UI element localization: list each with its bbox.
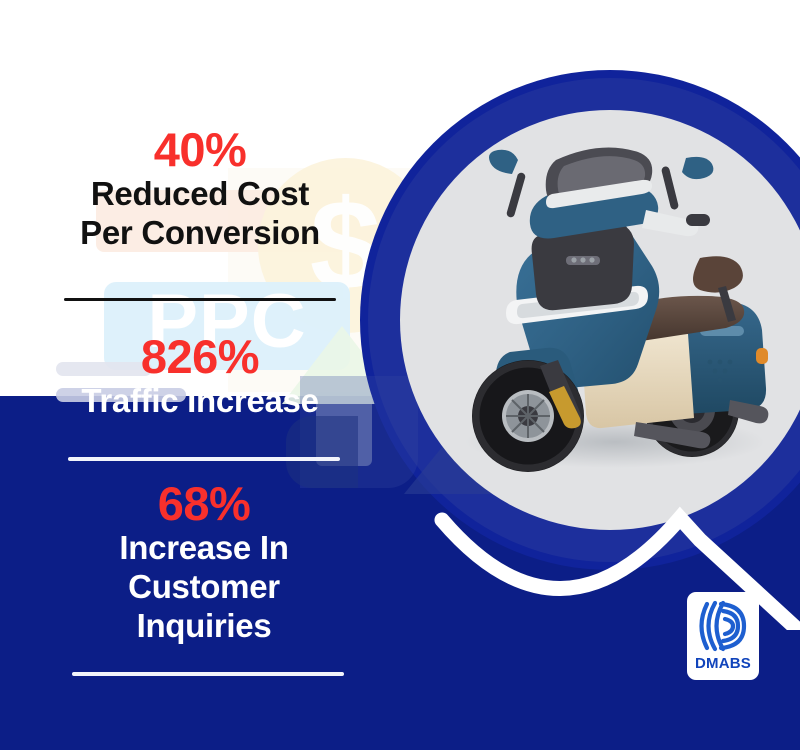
stat-block-1: 40% Reduced Cost Per Conversion: [0, 126, 400, 253]
stat-caption-3-line-1: Increase In: [4, 529, 404, 568]
stat-block-2: 826% Traffic Increase: [0, 333, 400, 421]
dmabs-swirl-icon: [694, 598, 752, 654]
divider-3: [8, 672, 408, 676]
product-photo-disc: [400, 110, 800, 530]
scooter-illustration: [400, 110, 800, 530]
brand-logo[interactable]: DMABS: [687, 592, 759, 680]
stat-caption-1-line-1: Reduced Cost: [0, 175, 400, 214]
stat-value-1: 40%: [0, 126, 400, 175]
stat-value-2: 826%: [0, 333, 400, 382]
poster-canvas: $ PPC: [0, 0, 800, 750]
stat-caption-3-line-3: Inquiries: [4, 607, 404, 646]
stat-caption-2-line-1: Traffic Increase: [0, 382, 400, 421]
logo-wordmark: DMABS: [695, 656, 751, 671]
divider-1: [0, 298, 400, 301]
divider-2: [4, 457, 404, 461]
stat-caption-3-line-2: Customer: [4, 568, 404, 607]
stats-column: 40% Reduced Cost Per Conversion 826% Tra…: [0, 0, 400, 750]
stat-caption-1-line-2: Per Conversion: [0, 214, 400, 253]
stat-value-3: 68%: [4, 480, 404, 529]
stat-block-3: 68% Increase In Customer Inquiries: [4, 480, 404, 646]
